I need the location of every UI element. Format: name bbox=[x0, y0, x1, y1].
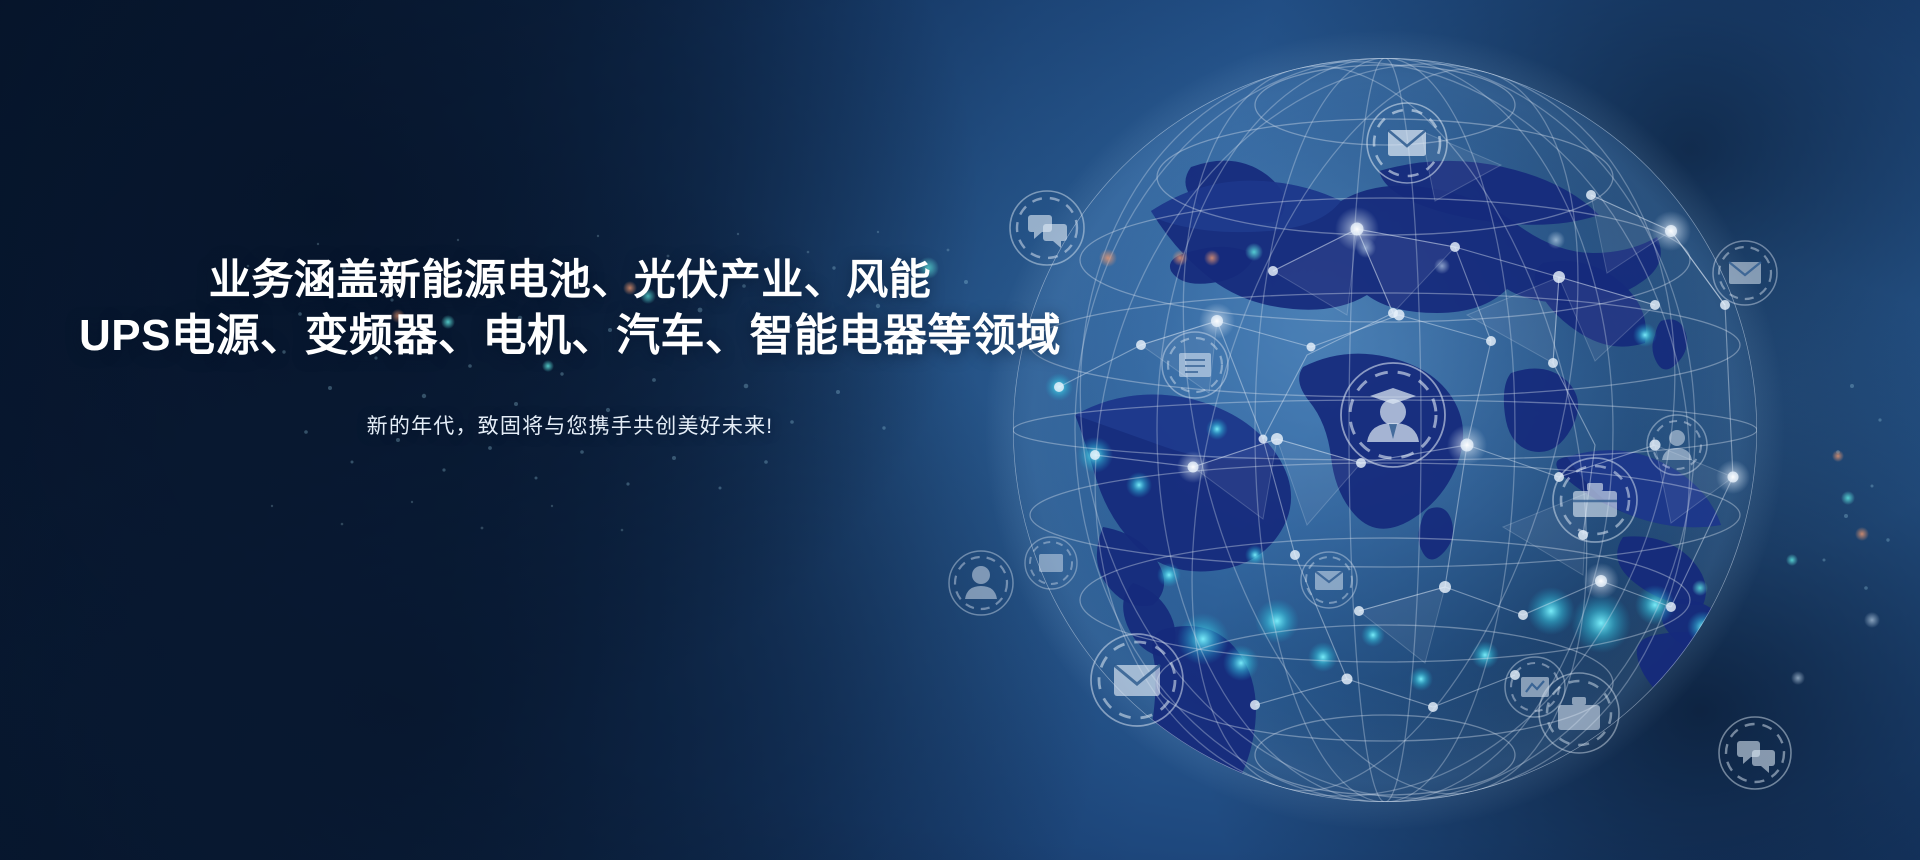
page-title: 业务涵盖新能源电池、光伏产业、风能 UPS电源、变频器、电机、汽车、智能电器等领… bbox=[0, 252, 1140, 366]
headline-line-1: 业务涵盖新能源电池、光伏产业、风能 bbox=[209, 256, 932, 303]
banner-subtitle: 新的年代，致固将与您携手共创美好未来! bbox=[0, 410, 1140, 440]
banner-copy: 业务涵盖新能源电池、光伏产业、风能 UPS电源、变频器、电机、汽车、智能电器等领… bbox=[0, 252, 1140, 440]
headline-line-2: UPS电源、变频器、电机、汽车、智能电器等领域 bbox=[79, 311, 1061, 360]
hero-banner: 业务涵盖新能源电池、光伏产业、风能 UPS电源、变频器、电机、汽车、智能电器等领… bbox=[0, 0, 1920, 860]
